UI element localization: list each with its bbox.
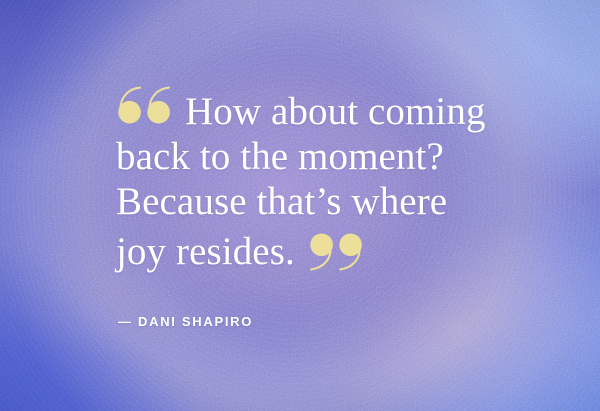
card-content: How about coming back to the moment? Bec… [0, 0, 600, 411]
quote-card: How about coming back to the moment? Bec… [0, 0, 600, 411]
attribution: — DANI SHAPIRO [118, 314, 253, 329]
quote-line-1: How about coming [116, 84, 586, 134]
close-quote-icon [308, 233, 370, 273]
quote-block: How about coming back to the moment? Bec… [116, 84, 586, 274]
quote-line-3: Because that’s where [116, 179, 586, 224]
quote-line-2-text: back to the moment? [116, 135, 444, 178]
quote-line-4: joy resides. [116, 224, 586, 274]
quote-line-1-text: How about coming [185, 90, 486, 133]
quote-line-3-text: Because that’s where [116, 180, 447, 223]
quote-line-4-text: joy resides. [116, 230, 295, 273]
open-quote-icon [116, 86, 178, 126]
quote-line-2: back to the moment? [116, 134, 586, 179]
